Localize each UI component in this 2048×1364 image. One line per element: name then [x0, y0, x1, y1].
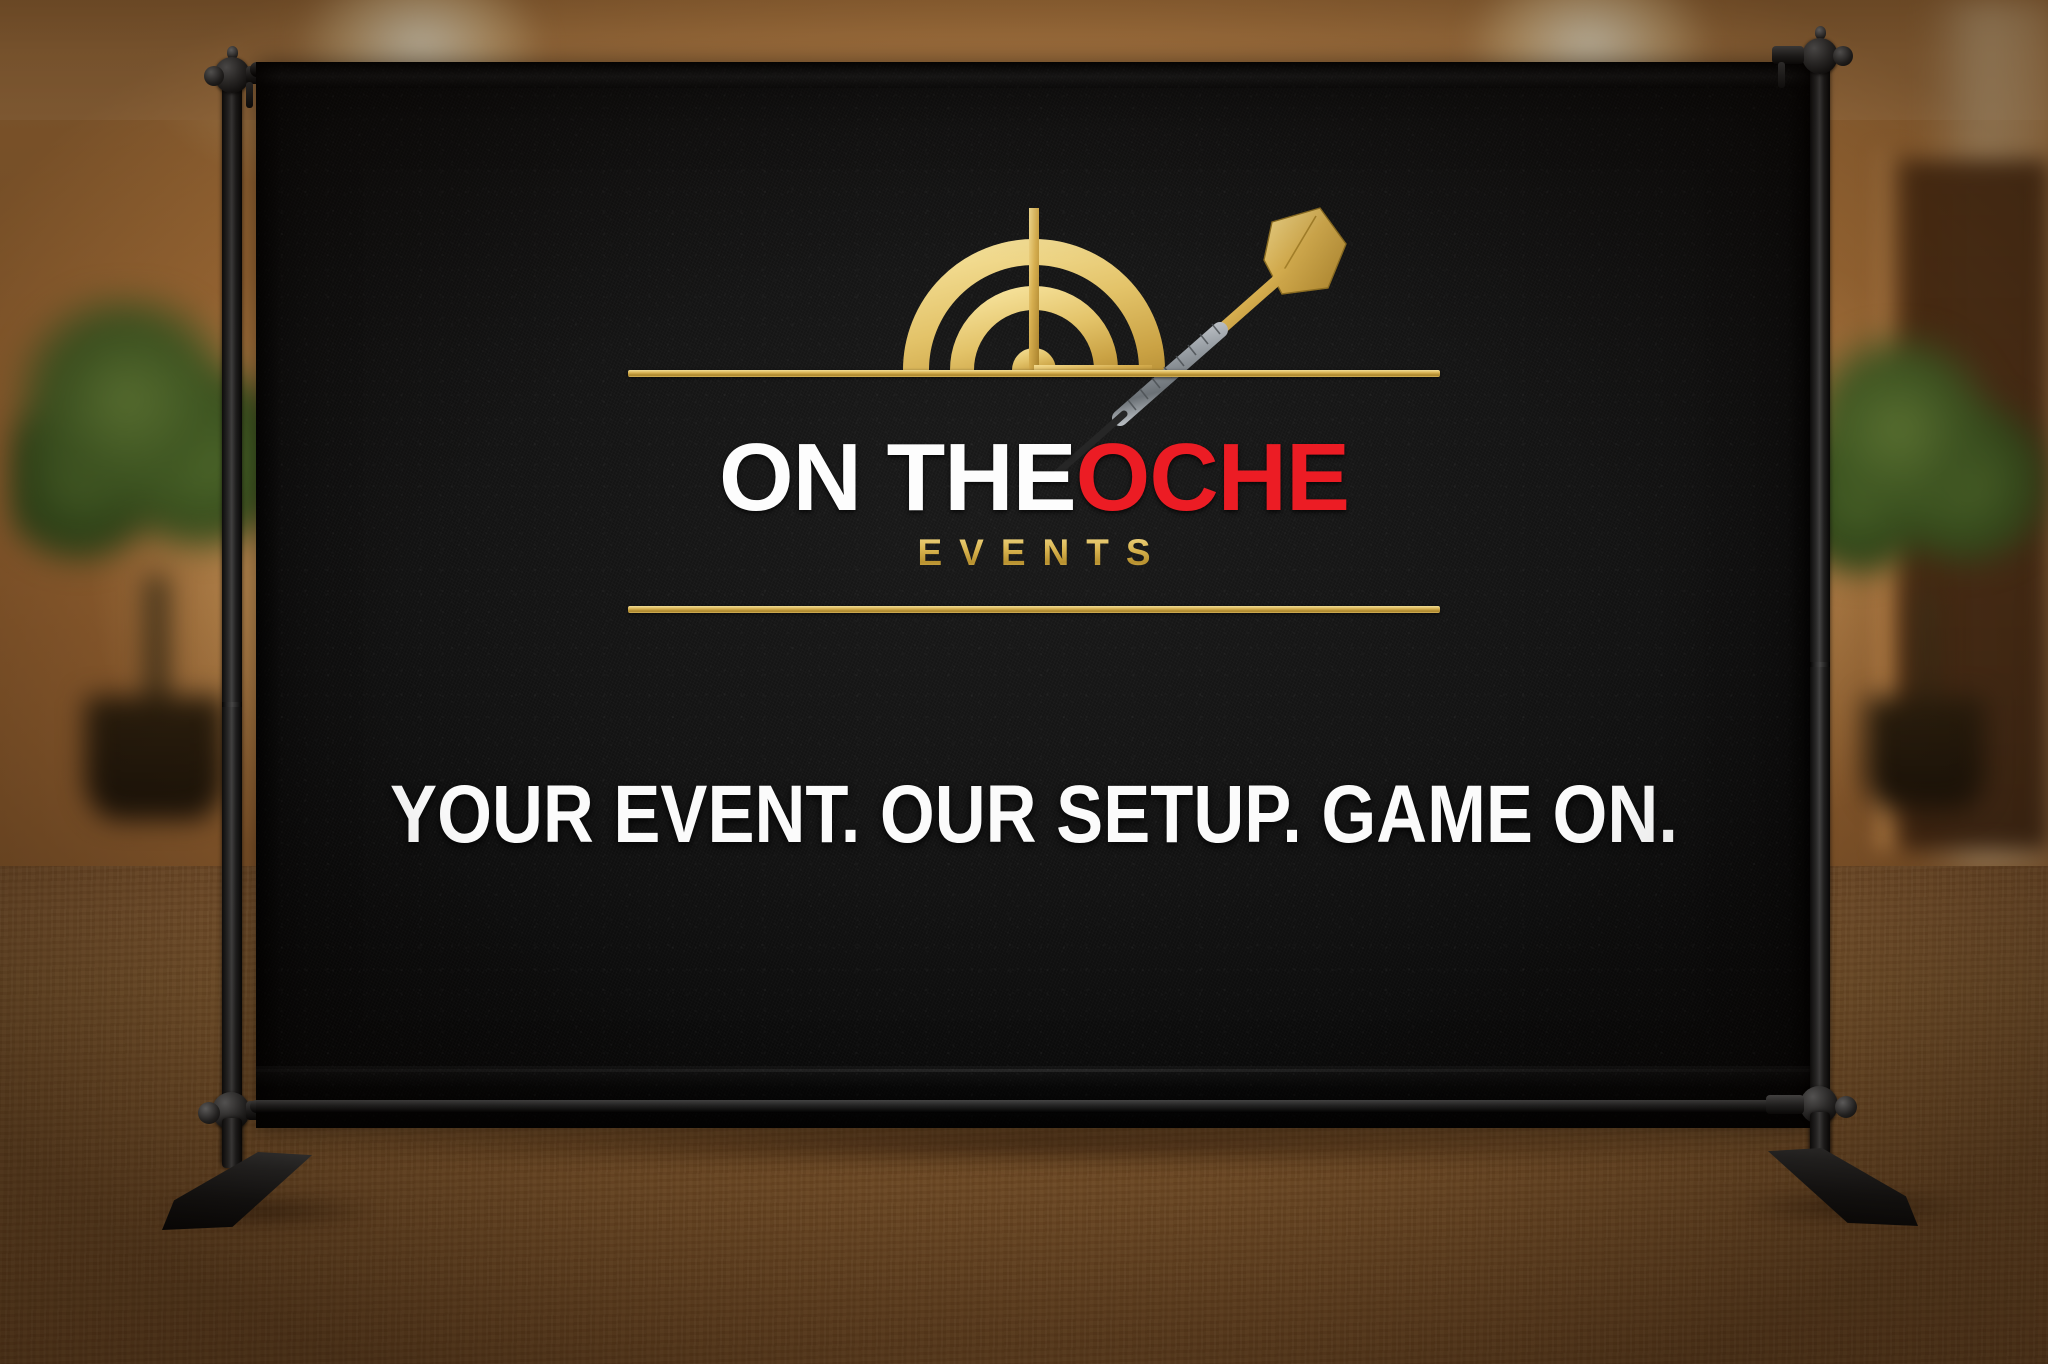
potted-plant-right	[1800, 330, 2048, 800]
right-top-stub	[1772, 46, 1804, 64]
banner-bottom-hem	[256, 1066, 1812, 1128]
wordmark-on-the: ON THE	[719, 424, 1076, 531]
banner-right-shading	[1786, 62, 1812, 1128]
banner-top-fold	[256, 62, 1812, 88]
left-bottom-knob	[198, 1102, 220, 1124]
bottom-crossbar	[250, 1100, 1820, 1113]
banner-left-shading	[256, 62, 282, 1128]
banner-tagline: YOUR EVENT. OUR SETUP. GAME ON.	[365, 774, 1703, 856]
left-top-knob	[204, 66, 224, 86]
left-top-hook	[246, 82, 253, 108]
left-upright-pole	[222, 62, 242, 1164]
right-bottom-stub	[1766, 1095, 1804, 1114]
right-top-knob	[1833, 46, 1853, 66]
logo-rule-bottom	[628, 606, 1440, 613]
right-upright-pole	[1810, 42, 1830, 1166]
right-top-hook	[1778, 62, 1785, 88]
banner-mockup-scene: ON THEOCHE EVENTS YOUR EVENT. OUR SETUP.…	[0, 0, 2048, 1364]
plant-pot	[85, 696, 224, 821]
pole-joint-seam	[222, 702, 242, 707]
right-bottom-knob	[1835, 1096, 1857, 1118]
wordmark-oche: OCHE	[1076, 424, 1349, 531]
banner-fabric: ON THEOCHE EVENTS YOUR EVENT. OUR SETUP.…	[256, 62, 1812, 1128]
plant-foliage	[1800, 330, 2048, 621]
logo-subword-events: EVENTS	[604, 532, 1464, 574]
logo-wordmark: ON THEOCHE	[604, 430, 1464, 526]
brand-logo: ON THEOCHE EVENTS	[604, 182, 1464, 482]
left-pole-lower-shank	[222, 1118, 242, 1168]
crosshair-vertical	[1029, 208, 1039, 370]
plant-pot	[1865, 697, 1985, 810]
logo-rule-top	[628, 370, 1440, 377]
pole-joint-seam	[1810, 662, 1830, 667]
